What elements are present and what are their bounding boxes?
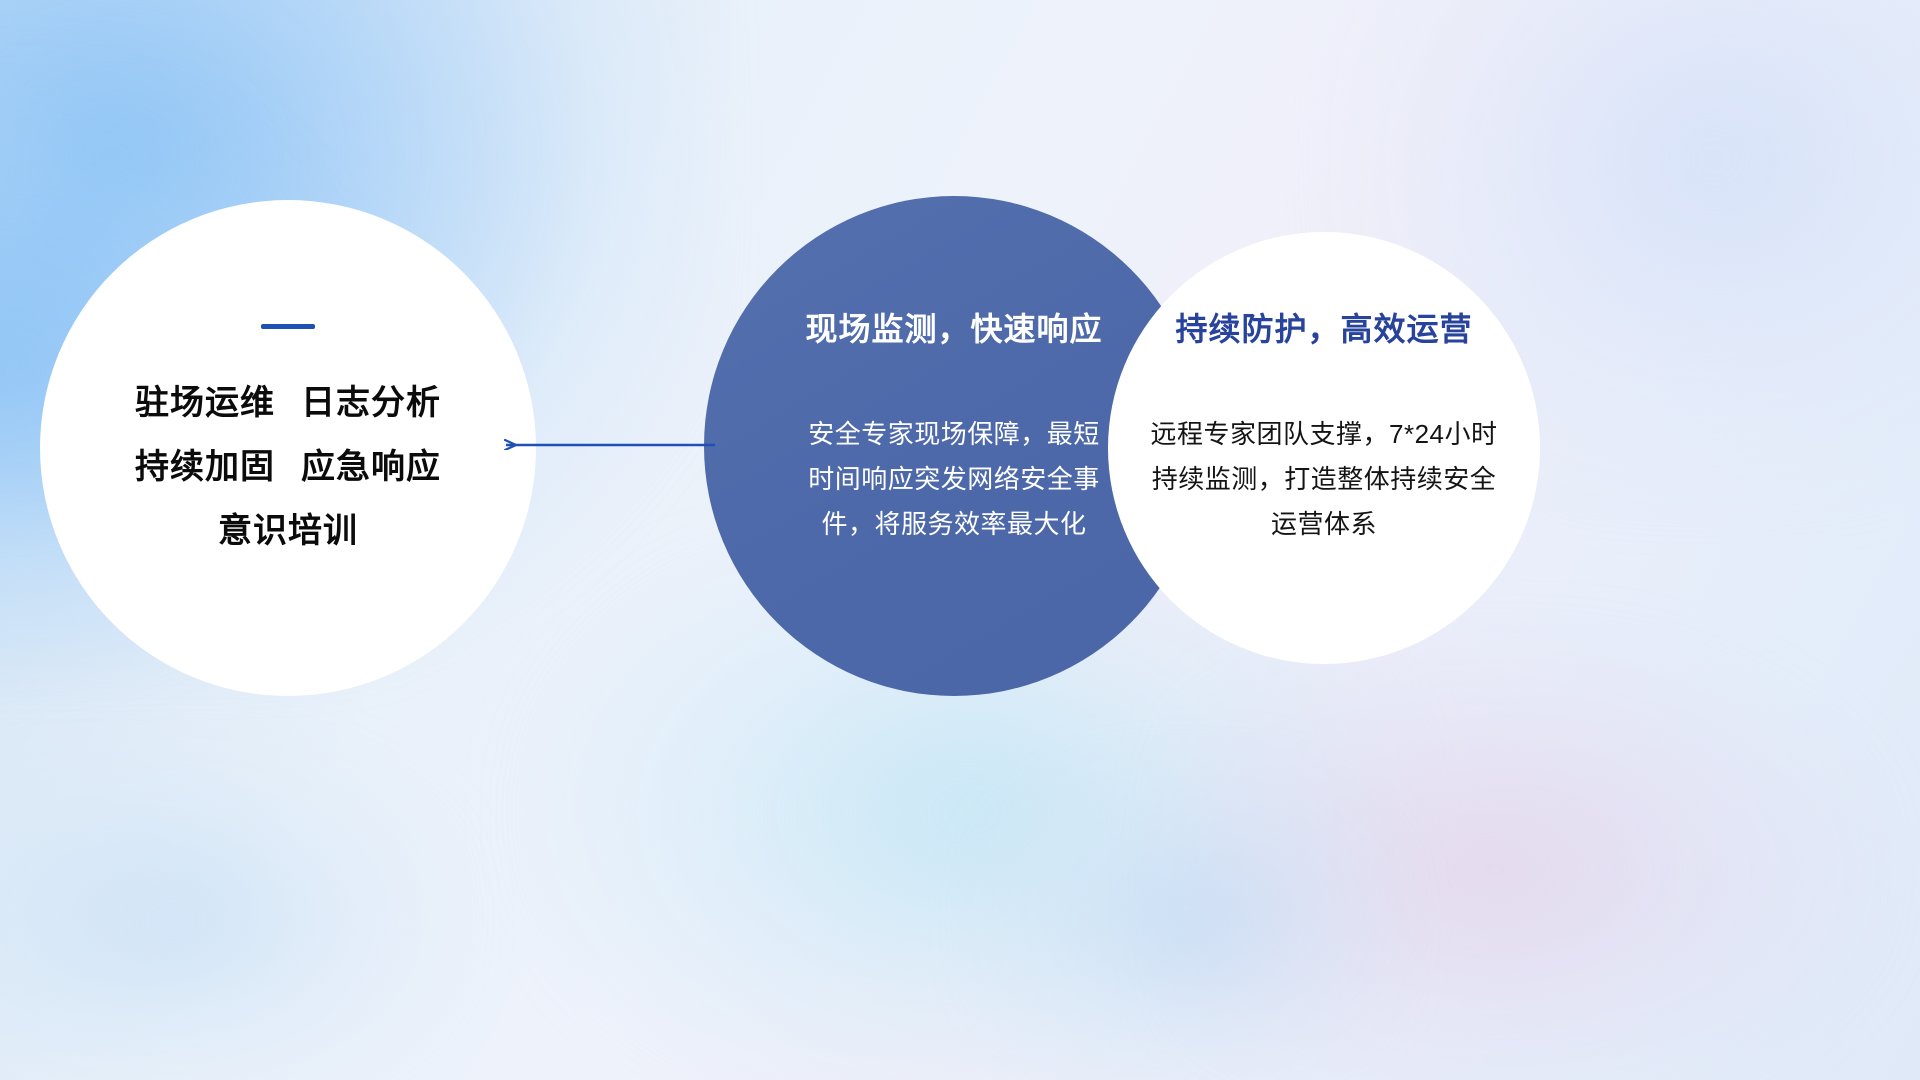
right-white-circle: [1108, 232, 1540, 664]
left-pointing-arrow-icon: [480, 410, 760, 480]
slide-canvas: 驻场运维日志分析 持续加固应急响应 意识培训 现场监测，快速响应 安全专家现场保…: [0, 0, 1920, 1080]
background-glow-center-right: [980, 760, 1400, 1080]
background-glow-bottom-left: [0, 740, 460, 1080]
left-white-circle: [40, 200, 536, 696]
